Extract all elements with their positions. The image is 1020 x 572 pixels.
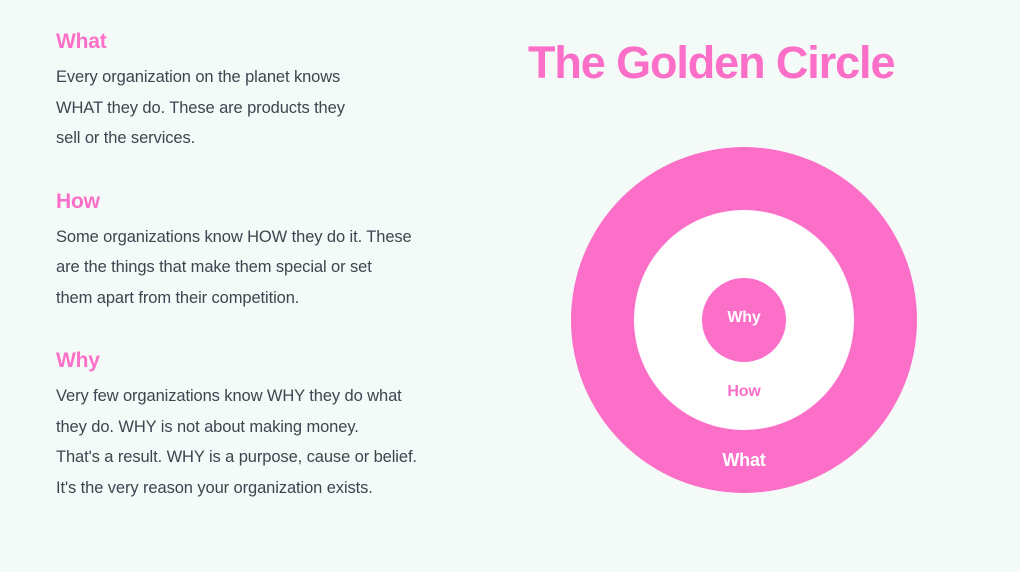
ring-label-what: What — [571, 450, 917, 471]
golden-circle-diagram: Why How What — [571, 147, 917, 493]
section-heading-why: Why — [56, 349, 506, 372]
section-heading-how: How — [56, 190, 506, 213]
section-heading-what: What — [56, 30, 506, 53]
slide: What Every organization on the planet kn… — [0, 0, 1020, 572]
section-body-how: Some organizations know HOW they do it. … — [56, 222, 506, 314]
text-column: What Every organization on the planet kn… — [56, 30, 506, 503]
ring-label-how: How — [571, 383, 917, 401]
section-body-why: Very few organizations know WHY they do … — [56, 381, 506, 503]
page-title: The Golden Circle — [528, 38, 978, 88]
ring-label-why: Why — [571, 309, 917, 327]
section-body-what: Every organization on the planet knows W… — [56, 62, 506, 154]
section-why: Why Very few organizations know WHY they… — [56, 349, 506, 503]
section-how: How Some organizations know HOW they do … — [56, 190, 506, 314]
section-what: What Every organization on the planet kn… — [56, 30, 506, 154]
